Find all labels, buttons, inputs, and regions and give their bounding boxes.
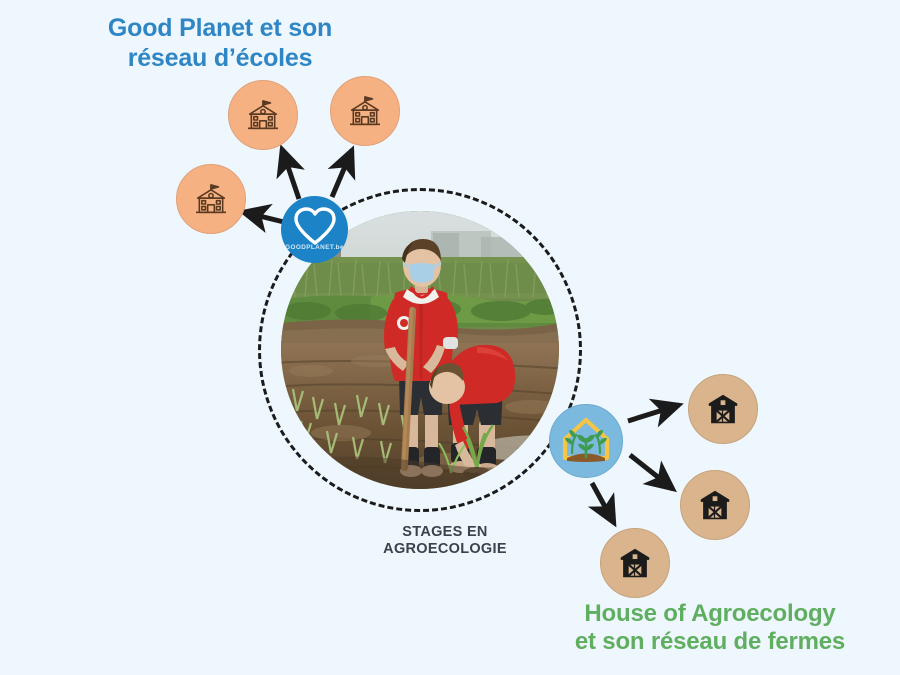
school-icon [243,95,283,135]
barn-icon [704,390,742,428]
farm-node-3[interactable] [600,528,670,598]
farm-node-2[interactable] [680,470,750,540]
house-plant-icon [558,413,614,469]
house-of-agroecology-badge[interactable] [549,404,623,478]
goodplanet-wordmark: GOODPLANET.be [281,244,348,251]
arrow-goodplanet-to-school-1 [282,149,299,199]
school-icon [191,179,231,219]
farm-node-1[interactable] [688,374,758,444]
photo-caption: STAGES EN AGROECOLOGIE [330,524,560,559]
school-node-3[interactable] [176,164,246,234]
arrow-house-to-farm-2 [630,455,673,489]
school-node-2[interactable] [330,76,400,146]
school-node-1[interactable] [228,80,298,150]
schools-network-title: Good Planet et son réseau d’écoles [70,14,370,73]
goodplanet-logo-badge[interactable]: GOODPLANET.be [281,196,348,263]
arrow-house-to-farm-1 [628,405,679,421]
barn-icon [616,544,654,582]
school-icon [345,91,385,131]
arrow-house-to-farm-3 [592,483,614,523]
farms-network-title: House of Agroecology et son réseau de fe… [540,600,880,657]
arrow-goodplanet-to-school-2 [332,150,352,197]
heart-icon [288,205,342,247]
barn-icon [696,486,734,524]
infographic-canvas: Good Planet et son réseau d’écoles [0,0,900,675]
